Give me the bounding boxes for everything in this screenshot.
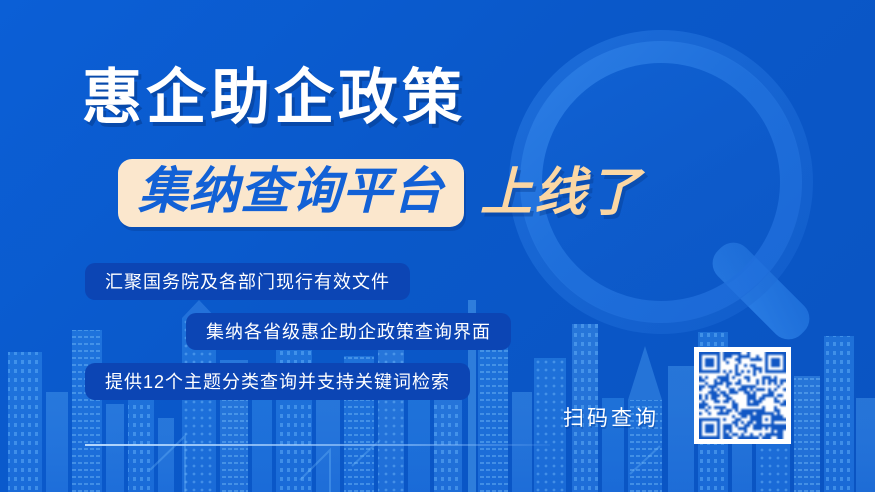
feature-item-2: 集纳各省级惠企助企政策查询界面 (186, 313, 511, 350)
page-title: 惠企助企政策 (82, 68, 466, 128)
scan-label: 扫码查询 (563, 408, 659, 429)
feature-item-3-label: 提供12个主题分类查询并支持关键词检索 (105, 373, 450, 391)
feature-item-1: 汇聚国务院及各部门现行有效文件 (85, 263, 410, 300)
promo-banner: 惠企助企政策 集纳查询平台 上线了 汇聚国务院及各部门现行有效文件 集纳各省级惠… (0, 0, 875, 492)
feature-item-3: 提供12个主题分类查询并支持关键词检索 (85, 363, 470, 400)
subtitle: 集纳查询平台 上线了 (118, 158, 642, 228)
feature-item-2-label: 集纳各省级惠企助企政策查询界面 (206, 323, 491, 341)
feature-item-1-label: 汇聚国务院及各部门现行有效文件 (105, 273, 390, 291)
subtitle-highlight-label: 上线了 (480, 167, 642, 219)
qr-code-icon[interactable] (694, 347, 791, 444)
subtitle-pill-label: 集纳查询平台 (138, 166, 444, 216)
subtitle-pill: 集纳查询平台 (118, 159, 464, 227)
qr-code-canvas (699, 352, 786, 439)
horizontal-divider (85, 444, 550, 446)
